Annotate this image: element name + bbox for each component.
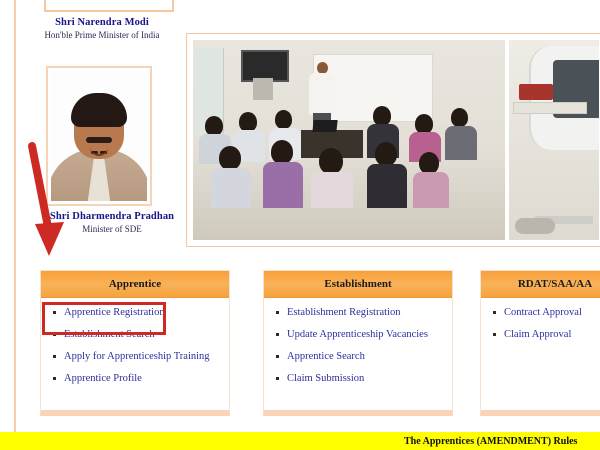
leader-sidebar: Shri Narendra Modi Hon'ble Prime Ministe… <box>22 0 182 260</box>
carousel-slide-workshop[interactable] <box>509 40 599 240</box>
card-apprentice-title: Apprentice <box>41 271 229 298</box>
pm-name: Shri Narendra Modi <box>22 16 182 29</box>
instructor-body <box>309 73 335 115</box>
link-contract-approval[interactable]: Contract Approval <box>491 306 600 319</box>
workshop-toolbox <box>519 84 553 100</box>
card-establishment-title: Establishment <box>264 271 452 298</box>
card-rdat-links: Contract Approval Claim Approval <box>481 298 600 341</box>
link-claim-submission[interactable]: Claim Submission <box>274 372 448 385</box>
service-cards: Apprentice Apprentice Registration Estab… <box>0 270 600 418</box>
link-establishment-registration[interactable]: Establishment Registration <box>274 306 448 319</box>
link-apply-apprenticeship-training[interactable]: Apply for Apprenticeship Training <box>51 350 225 363</box>
annotation-highlight-box <box>42 302 166 335</box>
link-apprentice-search[interactable]: Apprentice Search <box>274 350 448 363</box>
minister-role: Minister of SDE <box>22 223 202 235</box>
carousel-slides <box>193 40 599 240</box>
workshop-cylinder <box>515 218 555 234</box>
classroom-monitor-stand <box>253 78 273 100</box>
pm-role: Hon'ble Prime Minister of India <box>22 29 182 41</box>
carousel-slide-classroom[interactable] <box>193 40 505 240</box>
link-claim-approval[interactable]: Claim Approval <box>491 328 600 341</box>
classroom-scene <box>193 40 505 240</box>
pm-caption-block: Shri Narendra Modi Hon'ble Prime Ministe… <box>22 16 182 41</box>
portrait-hair <box>71 93 127 127</box>
workshop-bench <box>513 102 587 114</box>
minister-caption-block: Shri Dharmendra Pradhan Minister of SDE <box>22 210 202 235</box>
link-apprentice-profile[interactable]: Apprentice Profile <box>51 372 225 385</box>
page-root: Shri Narendra Modi Hon'ble Prime Ministe… <box>0 0 600 450</box>
news-marquee[interactable]: The Apprentices (AMENDMENT) Rules <box>0 432 600 450</box>
card-rdat-saa-aa: RDAT/SAA/AA Contract Approval Claim Appr… <box>480 270 600 416</box>
minister-name: Shri Dharmendra Pradhan <box>22 210 202 223</box>
workshop-scene <box>509 40 599 240</box>
card-apprentice: Apprentice Apprentice Registration Estab… <box>40 270 230 416</box>
card-rdat-title: RDAT/SAA/AA <box>481 271 600 298</box>
link-update-apprenticeship-vacancies[interactable]: Update Apprenticeship Vacancies <box>274 328 448 341</box>
card-establishment-links: Establishment Registration Update Appren… <box>264 298 452 385</box>
portrait-moustache <box>86 137 112 143</box>
image-carousel[interactable] <box>186 33 600 247</box>
card-establishment: Establishment Establishment Registration… <box>263 270 453 416</box>
minister-portrait-image <box>51 71 147 201</box>
pm-photo-frame-bottom <box>44 0 174 12</box>
minister-photo-frame <box>46 66 152 206</box>
classroom-laptop <box>312 120 337 132</box>
marquee-text: The Apprentices (AMENDMENT) Rules <box>404 436 577 447</box>
